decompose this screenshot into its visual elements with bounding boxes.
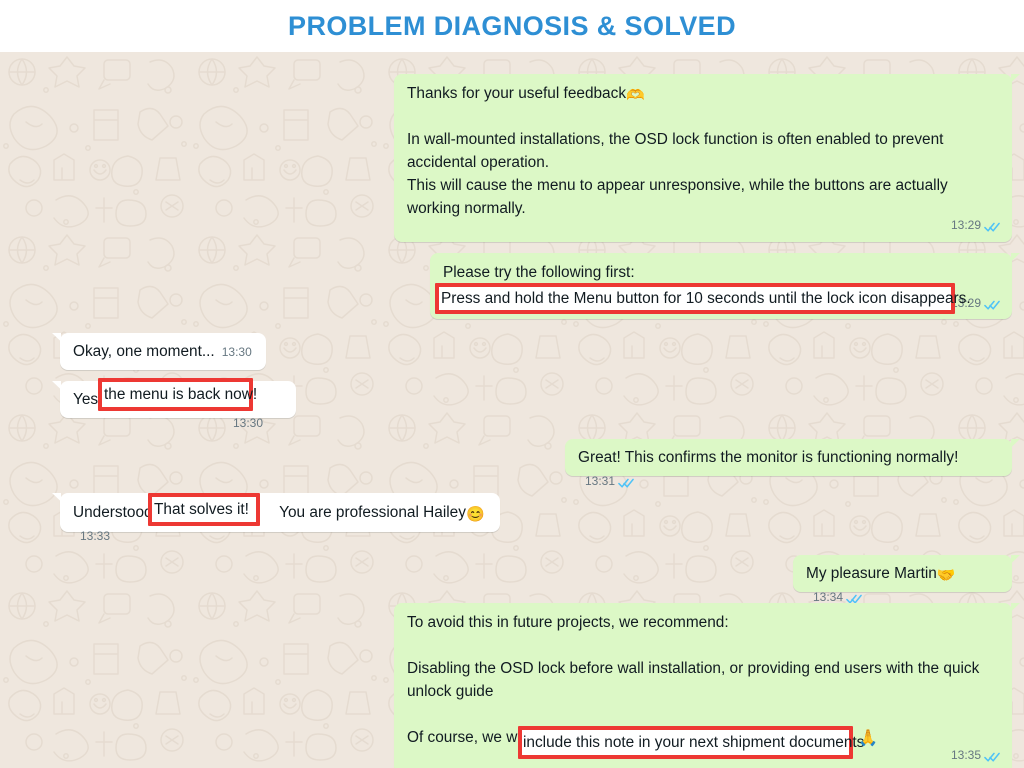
bubble-tail-icon (52, 333, 61, 346)
read-receipt-double-check-icon (618, 477, 635, 489)
whatsapp-chat-screenshot: PROBLEM DIAGNOSIS & SOLVED (0, 0, 1024, 768)
bubble-tail-icon (52, 493, 61, 506)
folded-hands-emoji-icon: 🙏 (858, 731, 878, 747)
message-meta: 13:31 (585, 470, 635, 493)
bubble-tail-icon (1011, 603, 1020, 616)
message-text: Great! This confirms the monitor is func… (578, 449, 958, 466)
highlight-text: Press and hold the Menu button for 10 se… (441, 287, 971, 310)
message-list[interactable]: Thanks for your useful feedback🫶In wall-… (0, 52, 1024, 768)
bubble-tail-icon (1011, 253, 1020, 266)
message-text: My pleasure Martin (806, 565, 937, 582)
message-timestamp: 13:31 (585, 470, 615, 493)
message-bubble-incoming[interactable]: Okay, one moment...13:30 (60, 333, 266, 370)
message-bubble-outgoing[interactable]: Great! This confirms the monitor is func… (565, 439, 1012, 476)
bubble-tail-icon (52, 381, 61, 394)
smiling-face-emoji-icon: 😊 (466, 506, 485, 523)
bubble-tail-icon (1011, 74, 1020, 87)
page-title-bar: PROBLEM DIAGNOSIS & SOLVED (0, 0, 1024, 52)
message-meta: 13:30 (233, 412, 263, 435)
message-text-prefix: Understood. (73, 504, 157, 521)
handshake-emoji-icon: 🤝 (937, 567, 956, 584)
read-receipt-double-check-icon (984, 751, 1001, 763)
chat-conversation-panel: Thanks for your useful feedback🫶In wall-… (0, 52, 1024, 768)
message-text-prefix: Of course, we will (407, 729, 528, 746)
message-timestamp: 13:30 (222, 341, 252, 364)
message-timestamp: 13:30 (233, 412, 263, 435)
message-timestamp: 13:33 (80, 525, 110, 548)
message-meta: 13:30 (222, 341, 252, 364)
message-text: Okay, one moment... (73, 343, 215, 360)
highlight-text: That solves it! (154, 498, 249, 521)
message-meta: 13:33 (80, 525, 110, 548)
read-receipt-double-check-icon (984, 221, 1001, 233)
message-bubble-incoming[interactable]: Understood. You are professional Hailey😊… (60, 493, 500, 532)
message-bubble-outgoing[interactable]: Thanks for your useful feedback🫶In wall-… (394, 74, 1012, 242)
read-receipt-double-check-icon (984, 299, 1001, 311)
highlight-text: the menu is back now! (104, 383, 257, 406)
message-text-suffix: You are professional Hailey (279, 504, 466, 521)
message-text: Thanks for your useful feedback🫶In wall-… (407, 82, 1000, 220)
message-meta: 13:29 (951, 214, 1001, 237)
message-timestamp: 13:35 (951, 744, 981, 767)
message-timestamp: 13:29 (951, 214, 981, 237)
hands-emoji-icon: 🫶 (626, 87, 645, 104)
bubble-tail-icon (1011, 555, 1020, 568)
message-meta: 13:35 (951, 744, 1001, 767)
highlight-text: include this note in your next shipment … (523, 731, 864, 754)
message-bubble-outgoing[interactable]: My pleasure Martin🤝13:34 (793, 555, 1012, 592)
page-title: PROBLEM DIAGNOSIS & SOLVED (288, 11, 736, 42)
bubble-tail-icon (1011, 439, 1020, 452)
